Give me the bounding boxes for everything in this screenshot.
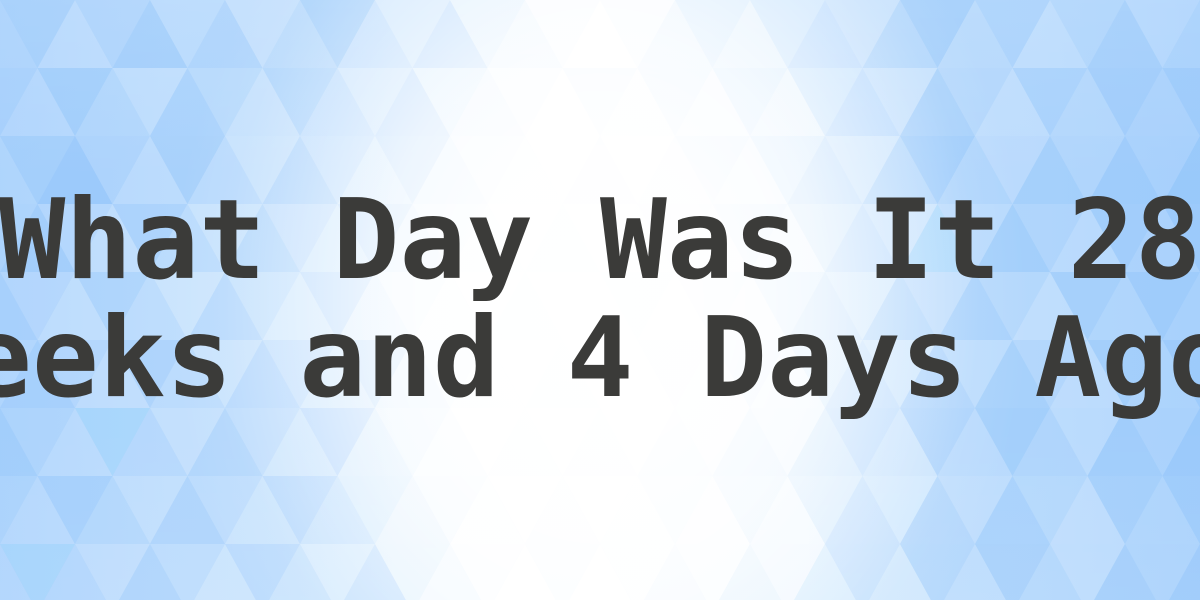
headline-block: What Day Was It 28 Weeks and 4 Days Ago? — [0, 0, 1200, 600]
banner-page: What Day Was It 28 Weeks and 4 Days Ago? — [0, 0, 1200, 600]
headline-line-2: Weeks and 4 Days Ago? — [0, 300, 1200, 418]
headline-line-1: What Day Was It 28 — [0, 182, 1200, 300]
